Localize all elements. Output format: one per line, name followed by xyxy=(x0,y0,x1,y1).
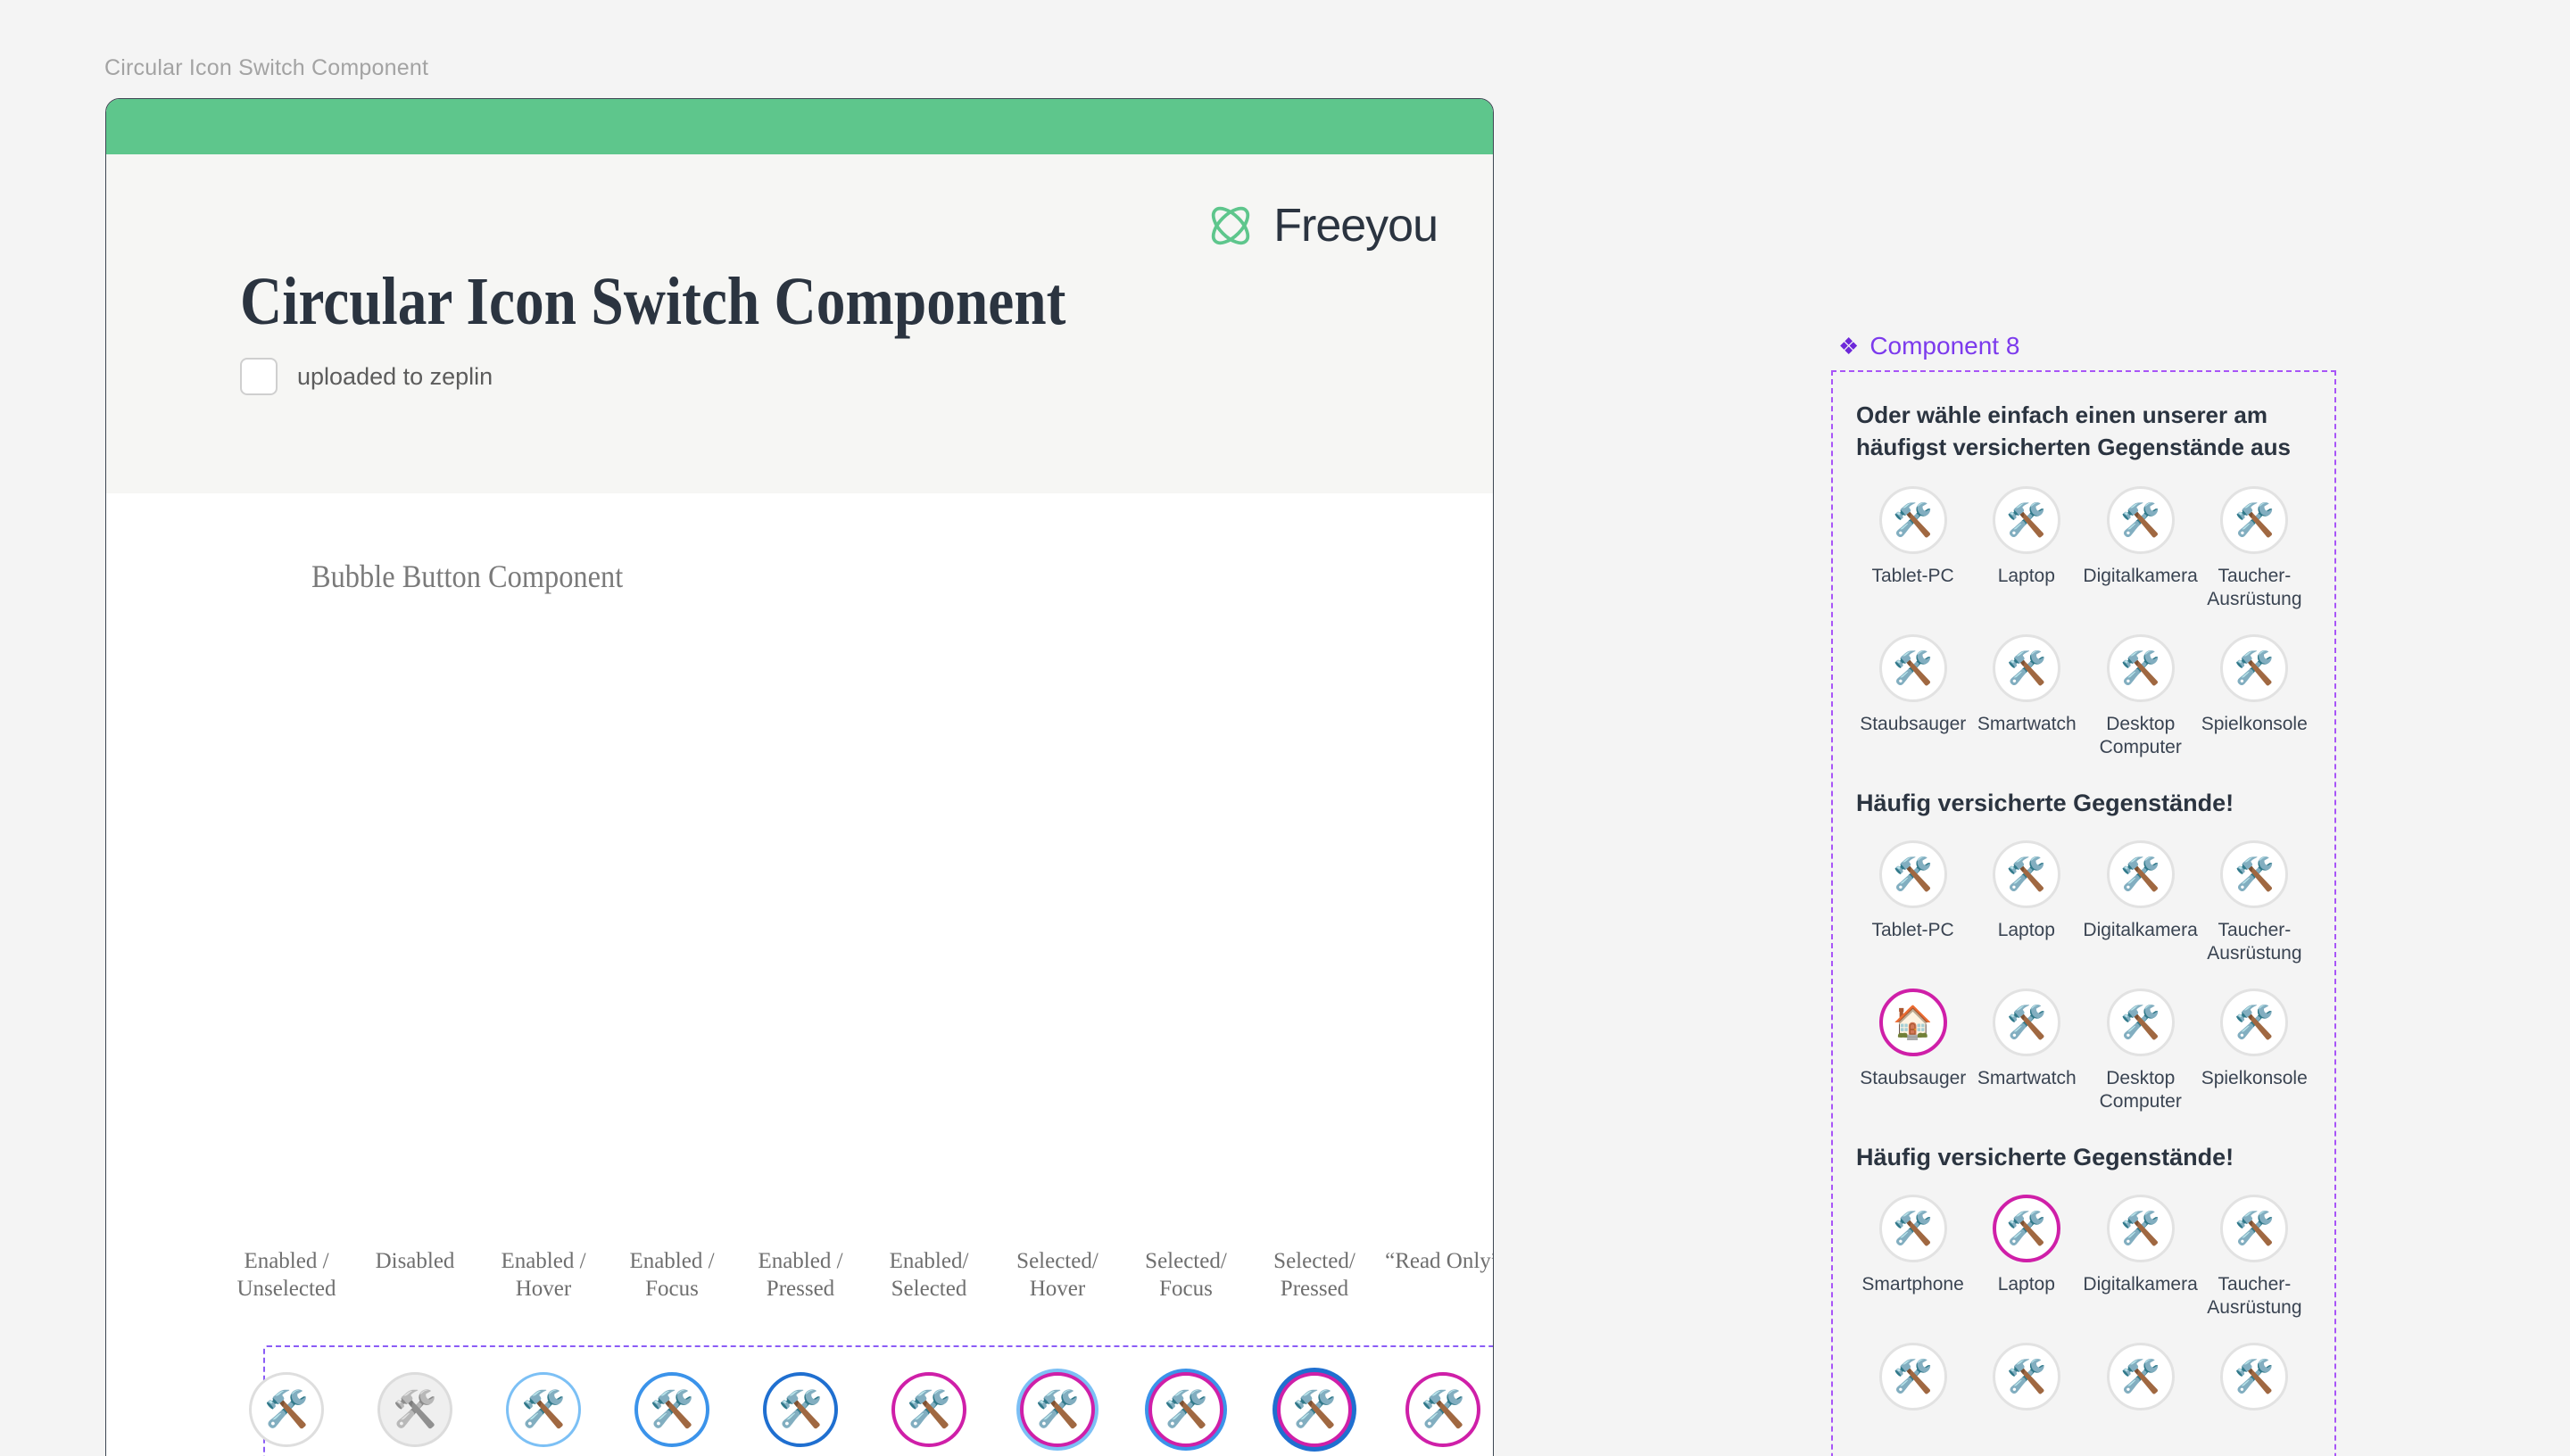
document-caption: Circular Icon Switch Component xyxy=(104,55,428,81)
column-header-selected-focus: Selected/ Focus xyxy=(1122,1247,1250,1303)
hammer-and-wrench-icon: 🛠️ xyxy=(2120,504,2160,536)
panel-item-bubble[interactable]: 🛠️ xyxy=(1879,1343,1947,1410)
panel-item-bubble[interactable]: 🛠️ xyxy=(2220,989,2288,1056)
panel-item[interactable]: 🛠️Smartwatch xyxy=(1970,634,2085,759)
bubble-cell: 🛠️ xyxy=(608,1372,736,1447)
panel-item-label: Laptop xyxy=(1998,1273,2055,1296)
hammer-and-wrench-icon: 🛠️ xyxy=(778,1392,823,1427)
hammer-and-wrench-icon: 🛠️ xyxy=(2006,504,2046,536)
panel-item[interactable]: 🛠️Laptop xyxy=(1969,486,2083,611)
hammer-and-wrench-icon: 🛠️ xyxy=(521,1392,566,1427)
panel-item-label: Digitalkamera xyxy=(2083,919,2197,942)
hammer-and-wrench-icon: 🛠️ xyxy=(2120,652,2160,684)
panel-item-bubble[interactable]: 🛠️ xyxy=(2107,1195,2175,1262)
panel-item-label: Taucher-Ausrüstung xyxy=(2198,1273,2311,1319)
panel-item[interactable]: 🛠️Tablet-PC xyxy=(1856,840,1969,965)
hammer-and-wrench-icon: 🛠️ xyxy=(907,1392,951,1427)
artboard-card: Freeyou Circular Icon Switch Component u… xyxy=(105,98,1494,1456)
brand-logo: Freeyou xyxy=(1204,199,1438,252)
panel-item[interactable]: 🛠️Taucher-Ausrüstung xyxy=(2198,840,2311,965)
component-badge-label: Component 8 xyxy=(1869,332,2019,360)
state-column-headers: Enabled / UnselectedDisabledEnabled / Ho… xyxy=(222,1247,1494,1303)
hammer-and-wrench-icon: 🛠️ xyxy=(1893,1361,1933,1393)
panel-item-bubble[interactable]: 🛠️ xyxy=(2107,486,2175,554)
bubble-button-enabled-hover[interactable]: 🛠️ xyxy=(506,1372,581,1447)
panel-item-row: 🛠️Tablet-PC🛠️Laptop🛠️Digitalkamera🛠️Tauc… xyxy=(1856,486,2311,611)
hammer-and-wrench-icon: 🛠️ xyxy=(2120,1361,2160,1393)
bubble-cell: 🛠️ xyxy=(865,1372,993,1447)
column-header-read-only: “Read Only” xyxy=(1379,1247,1494,1303)
bubble-cell: 🛠️ xyxy=(351,1372,479,1447)
uploaded-to-zeplin-label: uploaded to zeplin xyxy=(297,363,493,391)
column-header-enabled-focus: Enabled / Focus xyxy=(608,1247,736,1303)
panel-item[interactable]: 🛠️Taucher-Ausrüstung xyxy=(2198,486,2311,611)
brand-name: Freeyou xyxy=(1273,199,1438,252)
bubble-button-read-only[interactable]: 🛠️ xyxy=(1405,1372,1480,1447)
panel-item-label: Tablet-PC xyxy=(1872,565,1954,588)
panel-item[interactable]: 🛠️Laptop xyxy=(1969,1195,2083,1319)
house-icon: 🏠 xyxy=(1893,1006,1933,1038)
panel-item[interactable]: 🛠️Digitalkamera xyxy=(2083,840,2197,965)
panel-item-row: 🛠️Staubsauger🛠️Smartwatch🛠️Desktop Compu… xyxy=(1856,634,2311,759)
hammer-and-wrench-icon: 🛠️ xyxy=(2234,858,2275,890)
column-header-disabled: Disabled xyxy=(351,1247,479,1303)
component-panel: Oder wähle einfach einen unserer am häuf… xyxy=(1831,370,2336,1456)
panel-groups: 🛠️Tablet-PC🛠️Laptop🛠️Digitalkamera🛠️Tauc… xyxy=(1856,486,2311,1421)
panel-item-label: Spielkonsole xyxy=(2201,1067,2308,1090)
hammer-and-wrench-icon: 🛠️ xyxy=(2120,1212,2160,1245)
hammer-and-wrench-icon: 🛠️ xyxy=(1035,1392,1080,1427)
panel-section-heading: Häufig versicherte Gegenstände! xyxy=(1856,1144,2311,1171)
hammer-and-wrench-icon: 🛠️ xyxy=(1893,858,1933,890)
panel-section-heading: Häufig versicherte Gegenstände! xyxy=(1856,790,2311,817)
panel-item-bubble[interactable]: 🛠️ xyxy=(2107,1343,2175,1410)
diamond-component-icon: ❖ xyxy=(1838,335,1859,358)
panel-item[interactable]: 🛠️Spielkonsole xyxy=(2198,634,2312,759)
bubble-button-selected-focus[interactable]: 🛠️ xyxy=(1148,1372,1223,1447)
bubble-cell: 🛠️ xyxy=(479,1372,608,1447)
panel-item-row: 🛠️Smartphone🛠️Laptop🛠️Digitalkamera🛠️Tau… xyxy=(1856,1195,2311,1319)
panel-item-bubble-selected[interactable]: 🏠 xyxy=(1879,989,1947,1056)
panel-item-bubble[interactable]: 🛠️ xyxy=(1879,840,1947,908)
column-header-enabled-pressed: Enabled / Pressed xyxy=(736,1247,865,1303)
panel-item-label: Digitalkamera xyxy=(2083,565,2197,588)
panel-item-label: Smartphone xyxy=(1861,1273,1963,1296)
hammer-and-wrench-icon: 🛠️ xyxy=(2234,652,2275,684)
bubble-cell: 🛠️ xyxy=(1379,1372,1494,1447)
bubble-button-selected-hover[interactable]: 🛠️ xyxy=(1020,1372,1095,1447)
panel-item[interactable]: 🛠️Smartphone xyxy=(1856,1195,1969,1319)
panel-item[interactable]: 🛠️Laptop xyxy=(1969,840,2083,965)
panel-item[interactable]: 🛠️Tablet-PC xyxy=(1856,486,1969,611)
panel-item[interactable]: 🛠️Smartwatch xyxy=(1970,989,2085,1113)
bubble-button-enabled-focus[interactable]: 🛠️ xyxy=(634,1372,709,1447)
panel-item-label: Spielkonsole xyxy=(2201,713,2308,736)
panel-item-bubble[interactable]: 🛠️ xyxy=(2220,1343,2288,1410)
column-header-selected-hover: Selected/ Hover xyxy=(993,1247,1122,1303)
panel-item-label: Desktop Computer xyxy=(2084,713,2198,759)
bubble-cell: 🛠️ xyxy=(222,1372,351,1447)
bubble-cell: 🛠️ xyxy=(1250,1372,1379,1447)
column-header-enabled-hover: Enabled / Hover xyxy=(479,1247,608,1303)
panel-item-label: Staubsauger xyxy=(1860,1067,1966,1090)
panel-item-bubble[interactable]: 🛠️ xyxy=(2220,634,2288,702)
zeplin-checkbox-row[interactable]: uploaded to zeplin xyxy=(240,358,493,395)
hammer-and-wrench-icon: 🛠️ xyxy=(2007,1361,2047,1393)
panel-item-bubble[interactable]: 🛠️ xyxy=(2220,1195,2288,1262)
panel-item[interactable]: 🛠️Desktop Computer xyxy=(2084,989,2198,1113)
panel-item[interactable]: 🛠️ xyxy=(2084,1343,2198,1421)
column-header-enabled-selected: Enabled/ Selected xyxy=(865,1247,993,1303)
panel-item-bubble[interactable]: 🛠️ xyxy=(1879,486,1947,554)
panel-item-bubble[interactable]: 🛠️ xyxy=(1993,840,2060,908)
bubble-button-enabled-pressed[interactable]: 🛠️ xyxy=(763,1372,838,1447)
panel-item-row: 🛠️Tablet-PC🛠️Laptop🛠️Digitalkamera🛠️Tauc… xyxy=(1856,840,2311,965)
hammer-and-wrench-icon: 🛠️ xyxy=(1292,1392,1337,1427)
hammer-and-wrench-icon: 🛠️ xyxy=(264,1392,309,1427)
hammer-and-wrench-icon: 🛠️ xyxy=(2234,1006,2275,1038)
hammer-and-wrench-icon: 🛠️ xyxy=(1164,1392,1208,1427)
hammer-and-wrench-icon: 🛠️ xyxy=(2234,1361,2275,1393)
panel-intro-title: Oder wähle einfach einen unserer am häuf… xyxy=(1856,399,2311,463)
panel-item-bubble[interactable]: 🛠️ xyxy=(1993,486,2060,554)
panel-item-label: Tablet-PC xyxy=(1872,919,1954,942)
bubble-cell: 🛠️ xyxy=(1122,1372,1250,1447)
panel-item[interactable]: 🏠Staubsauger xyxy=(1856,989,1970,1113)
hammer-and-wrench-icon: 🛠️ xyxy=(2234,1212,2275,1245)
panel-item-bubble[interactable]: 🛠️ xyxy=(2107,634,2175,702)
panel-item-label: Digitalkamera xyxy=(2083,1273,2197,1296)
panel-item-bubble[interactable]: 🛠️ xyxy=(2220,486,2288,554)
bubble-row-tools: 🛠️🛠️🛠️🛠️🛠️🛠️🛠️🛠️🛠️🛠️ xyxy=(222,1372,1494,1447)
bubble-cell: 🛠️ xyxy=(993,1372,1122,1447)
panel-item-bubble[interactable]: 🛠️ xyxy=(2107,840,2175,908)
hammer-and-wrench-icon: 🛠️ xyxy=(1893,504,1933,536)
hammer-and-wrench-icon: 🛠️ xyxy=(650,1392,694,1427)
page-title: Circular Icon Switch Component xyxy=(240,263,1065,341)
hammer-and-wrench-icon: 🛠️ xyxy=(1421,1392,1465,1427)
bubble-button-enabled-selected[interactable]: 🛠️ xyxy=(891,1372,966,1447)
panel-item[interactable]: 🛠️Staubsauger xyxy=(1856,634,1970,759)
panel-item-label: Desktop Computer xyxy=(2084,1067,2198,1113)
column-header-selected-pressed: Selected/ Pressed xyxy=(1250,1247,1379,1303)
artboard-header: Freeyou Circular Icon Switch Component u… xyxy=(106,154,1493,493)
panel-item-row: 🛠️🛠️🛠️🛠️ xyxy=(1856,1343,2311,1421)
panel-item-bubble[interactable]: 🛠️ xyxy=(1993,634,2060,702)
panel-item[interactable]: 🛠️Taucher-Ausrüstung xyxy=(2198,1195,2311,1319)
panel-item-bubble[interactable]: 🛠️ xyxy=(2107,989,2175,1056)
hammer-and-wrench-icon: 🛠️ xyxy=(1893,652,1933,684)
panel-item-label: Laptop xyxy=(1998,919,2055,942)
bubble-button-disabled[interactable]: 🛠️ xyxy=(377,1372,452,1447)
panel-item-label: Taucher-Ausrüstung xyxy=(2198,565,2311,611)
bubble-button-enabled-unselected[interactable]: 🛠️ xyxy=(249,1372,324,1447)
artboard-body: Bubble Button Component Enabled / Unsele… xyxy=(106,493,1493,1456)
panel-item-label: Smartwatch xyxy=(1977,1067,2077,1090)
hammer-and-wrench-icon: 🛠️ xyxy=(2006,858,2046,890)
panel-item-label: Smartwatch xyxy=(1977,713,2077,736)
page-root: Circular Icon Switch Component Freeyou C… xyxy=(0,0,2570,1456)
hammer-and-wrench-icon: 🛠️ xyxy=(2120,858,2160,890)
hammer-and-wrench-icon: 🛠️ xyxy=(2007,1006,2047,1038)
hammer-and-wrench-icon: 🛠️ xyxy=(2007,652,2047,684)
panel-item-label: Laptop xyxy=(1998,565,2055,588)
panel-item-bubble-selected[interactable]: 🛠️ xyxy=(1993,1195,2060,1262)
bubble-cell: 🛠️ xyxy=(736,1372,865,1447)
hammer-and-wrench-icon: 🛠️ xyxy=(2006,1212,2046,1245)
component-badge: ❖ Component 8 xyxy=(1838,332,2019,360)
panel-item-bubble[interactable]: 🛠️ xyxy=(1993,1343,2060,1410)
panel-item-bubble[interactable]: 🛠️ xyxy=(1993,989,2060,1056)
panel-item-label: Taucher-Ausrüstung xyxy=(2198,919,2311,965)
panel-item-bubble[interactable]: 🛠️ xyxy=(1879,634,1947,702)
hammer-and-wrench-icon: 🛠️ xyxy=(393,1392,437,1427)
section-title-bubble-button-component: Bubble Button Component xyxy=(311,558,623,595)
hammer-and-wrench-icon: 🛠️ xyxy=(1893,1212,1933,1245)
panel-item-bubble[interactable]: 🛠️ xyxy=(2220,840,2288,908)
hammer-and-wrench-icon: 🛠️ xyxy=(2234,504,2275,536)
panel-item[interactable]: 🛠️ xyxy=(1856,1343,1970,1421)
panel-item[interactable]: 🛠️Digitalkamera xyxy=(2083,1195,2197,1319)
panel-item-row: 🏠Staubsauger🛠️Smartwatch🛠️Desktop Comput… xyxy=(1856,989,2311,1113)
panel-item[interactable]: 🛠️ xyxy=(2198,1343,2312,1421)
bubble-button-selected-pressed[interactable]: 🛠️ xyxy=(1277,1372,1352,1447)
uploaded-to-zeplin-checkbox[interactable] xyxy=(240,358,278,395)
panel-item[interactable]: 🛠️ xyxy=(1970,1343,2085,1421)
hammer-and-wrench-icon: 🛠️ xyxy=(2120,1006,2160,1038)
column-header-enabled-unselected: Enabled / Unselected xyxy=(222,1247,351,1303)
panel-item[interactable]: 🛠️Digitalkamera xyxy=(2083,486,2197,611)
panel-item[interactable]: 🛠️Desktop Computer xyxy=(2084,634,2198,759)
panel-item[interactable]: 🛠️Spielkonsole xyxy=(2198,989,2312,1113)
panel-item-bubble[interactable]: 🛠️ xyxy=(1879,1195,1947,1262)
artboard-green-topbar xyxy=(106,99,1493,154)
atom-logo-icon xyxy=(1204,199,1257,252)
panel-item-label: Staubsauger xyxy=(1860,713,1966,736)
